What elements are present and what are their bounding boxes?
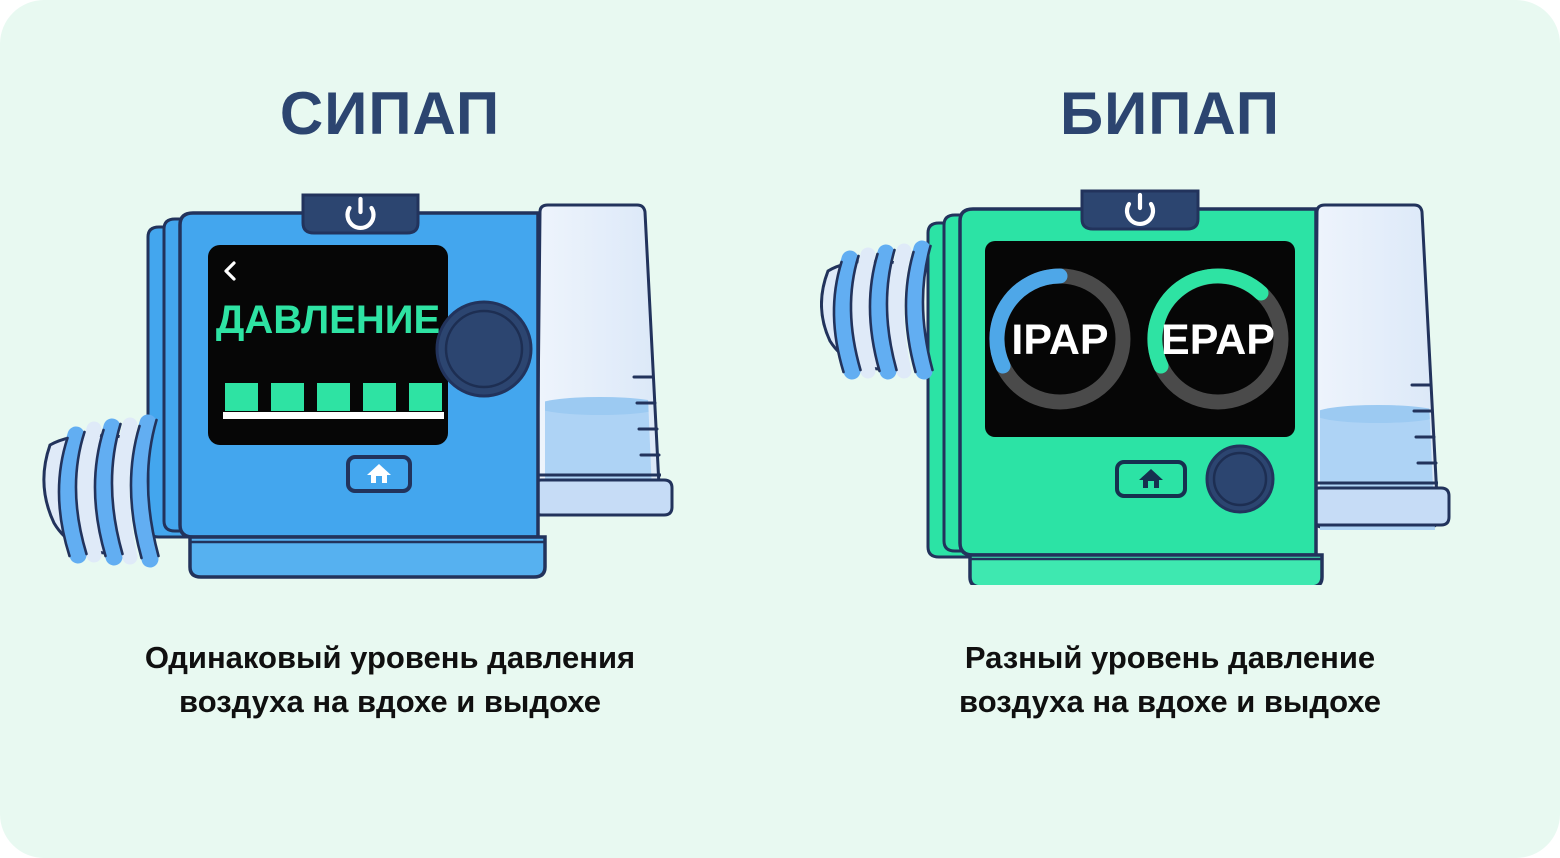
cpap-screen[interactable]: ДАВЛЕНИЕ [208,245,448,445]
bipap-svg: IPAP EPAP [820,185,1520,585]
cpap-title: СИПАП [0,84,780,144]
cpap-caption-line-2: воздуха на вдохе и выдохе [0,680,780,724]
cpap-illustration: ДАВЛЕНИЕ [0,185,780,585]
bipap-humidifier-tank [1313,205,1449,533]
cpap-humidifier-tank [535,205,672,520]
bipap-air-hose [821,246,932,372]
cpap-air-hose [44,420,159,559]
bipap-power-button[interactable] [1082,191,1198,229]
bipap-caption-line-2: воздуха на вдохе и выдохе [780,680,1560,724]
cpap-panel: СИПАП [0,0,780,858]
cpap-control-knob[interactable] [437,302,531,396]
bipap-illustration: IPAP EPAP [780,185,1560,585]
cpap-pressure-bars [225,383,442,411]
bipap-control-knob[interactable] [1207,446,1273,512]
bipap-screen[interactable]: IPAP EPAP [985,241,1295,437]
cpap-bars-baseline [223,412,444,419]
bipap-gauge-epap-label: EPAP [1161,316,1275,364]
cpap-power-button[interactable] [303,195,418,233]
bipap-gauge-ipap-label: IPAP [1011,316,1108,364]
cpap-screen-label: ДАВЛЕНИЕ [216,298,440,342]
cpap-svg: ДАВЛЕНИЕ [40,185,740,585]
infographic-canvas: СИПАП [0,0,1560,858]
bipap-caption-line-1: Разный уровень давление [780,636,1560,680]
bipap-caption: Разный уровень давление воздуха на вдохе… [780,636,1560,724]
cpap-caption: Одинаковый уровень давления воздуха на в… [0,636,780,724]
bipap-panel: БИПАП [780,0,1560,858]
cpap-caption-line-1: Одинаковый уровень давления [0,636,780,680]
bipap-title: БИПАП [780,84,1560,144]
